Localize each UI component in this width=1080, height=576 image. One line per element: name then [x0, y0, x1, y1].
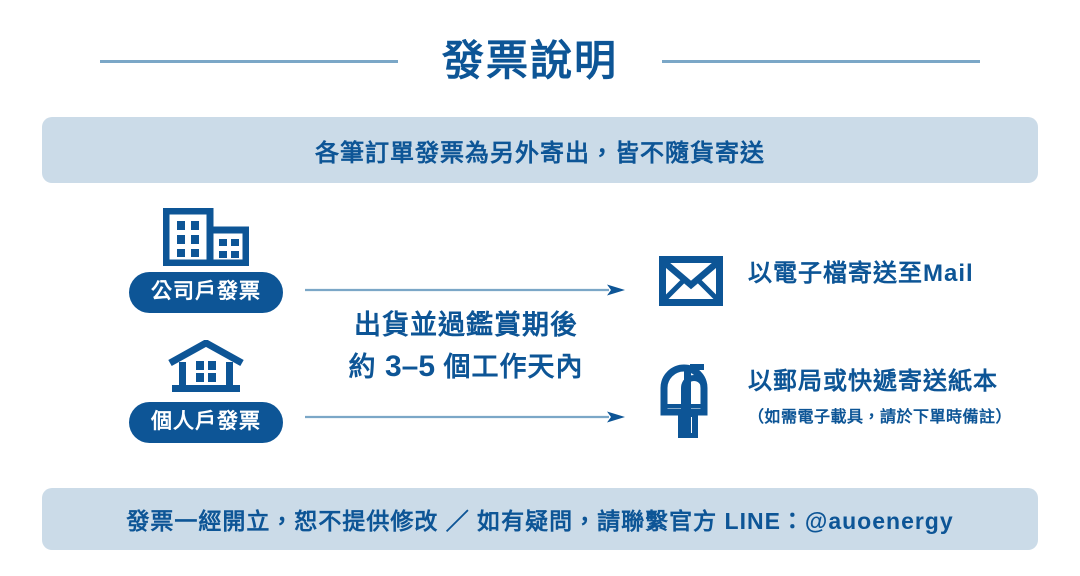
house-icon — [166, 338, 246, 396]
flow-caption-days: 3–5 — [385, 350, 435, 383]
destination-post-note: （如需電子載具，請於下單時備註） — [748, 403, 1012, 427]
top-banner: 各筆訂單發票為另外寄出，皆不隨貨寄送 — [42, 117, 1038, 183]
flow-caption: 出貨並過鑑賞期後 約 3–5 個工作天內 — [305, 306, 627, 389]
destination-email: 以電子檔寄送至Mail — [656, 256, 974, 306]
flow-diagram: 公司戶發票 個人戶發票 — [0, 196, 1080, 476]
page-title: 發票說明 — [442, 40, 618, 82]
flow-caption-line2: 約 3–5 個工作天內 — [305, 345, 627, 389]
office-building-icon — [163, 208, 249, 266]
bottom-banner-text: 發票一經開立，恕不提供修改 ／ 如有疑問，請聯繫官方 LINE：@auoener… — [126, 502, 953, 536]
destination-post: 以郵局或快遞寄送紙本 （如需電子載具，請於下單時備註） — [656, 364, 1012, 438]
invoice-info-infographic: 發票說明 各筆訂單發票為另外寄出，皆不隨貨寄送 — [0, 0, 1080, 576]
page-header: 發票說明 — [0, 26, 1080, 96]
destination-post-title: 以郵局或快遞寄送紙本 — [748, 368, 1012, 397]
destination-email-text: 以電子檔寄送至Mail — [748, 256, 974, 289]
destination-post-text: 以郵局或快遞寄送紙本 （如需電子載具，請於下單時備註） — [748, 364, 1012, 427]
flow-arrow-top — [305, 283, 627, 297]
source-company: 公司戶發票 — [118, 208, 294, 313]
source-company-label: 公司戶發票 — [129, 272, 283, 313]
flow-arrow-bottom — [305, 410, 627, 424]
top-banner-text: 各筆訂單發票為另外寄出，皆不隨貨寄送 — [315, 133, 765, 168]
flow-caption-suffix: 個工作天內 — [435, 352, 584, 382]
flow-caption-line1: 出貨並過鑑賞期後 — [305, 306, 627, 345]
source-person-label: 個人戶發票 — [129, 402, 283, 443]
envelope-icon — [656, 256, 726, 306]
flow-caption-prefix: 約 — [348, 352, 385, 382]
destination-email-title: 以電子檔寄送至Mail — [748, 260, 974, 289]
bottom-banner: 發票一經開立，恕不提供修改 ／ 如有疑問，請聯繫官方 LINE：@auoener… — [42, 488, 1038, 550]
title-rule-left — [100, 60, 398, 63]
source-person: 個人戶發票 — [118, 338, 294, 443]
title-rule-right — [662, 60, 980, 63]
mailbox-icon — [656, 364, 726, 438]
